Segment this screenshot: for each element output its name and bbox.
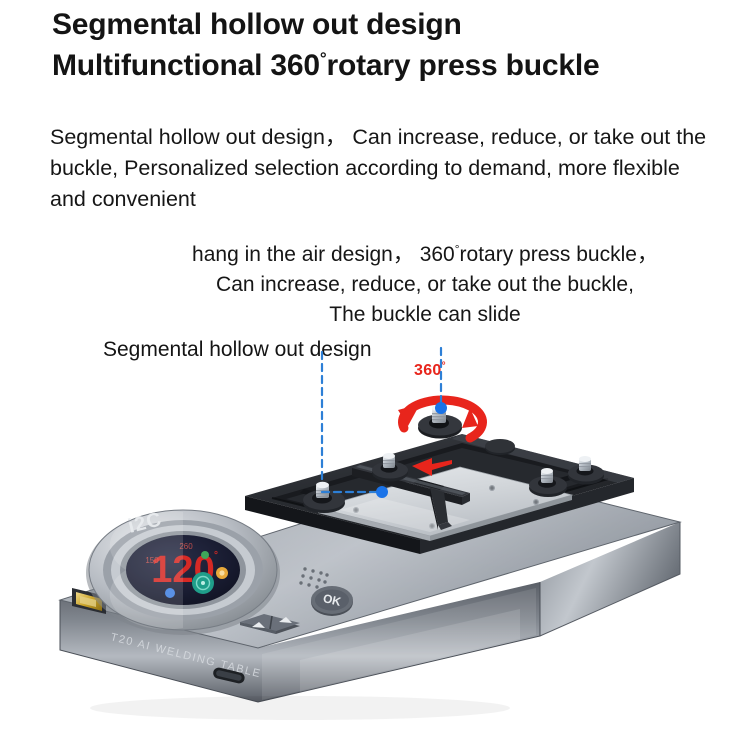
description-paragraph: Segmental hollow out design， Can increas… <box>50 122 710 215</box>
leader-dot-rotary <box>435 402 447 414</box>
thumbscrew-buckle-rear-far[interactable] <box>568 456 604 485</box>
feature-paragraph-line-1-pre: hang in the air design， 360 <box>192 243 455 266</box>
feature-paragraph-line-2: Can increase, reduce, or take out the bu… <box>150 270 700 300</box>
leader-line-right <box>435 348 447 414</box>
page-title-line-2-post: rotary press buckle <box>327 49 600 82</box>
display-status-dot-green <box>201 551 209 559</box>
product-illustration: T20 AI WELDING TABLE 120 ° 150 260 <box>0 330 750 750</box>
display-unit: ° <box>214 550 218 561</box>
degree-symbol-heading: ° <box>320 49 327 68</box>
page-title: Segmental hollow out design Multifunctio… <box>52 4 742 86</box>
page-title-line-1: Segmental hollow out design <box>52 4 742 45</box>
feature-paragraph: hang in the air design， 360°rotary press… <box>150 240 700 330</box>
leader-dot-hollow-out <box>376 486 388 498</box>
ok-button[interactable]: OK <box>311 586 353 616</box>
feature-paragraph-line-3: The buckle can slide <box>150 300 700 330</box>
display-module[interactable]: 120 ° 150 260 <box>86 510 280 635</box>
thumbscrew-buckle-back-left[interactable] <box>485 439 515 455</box>
page-title-line-2-pre: Multifunctional 360 <box>52 49 320 82</box>
feature-paragraph-line-1-post: rotary press buckle， <box>460 243 658 266</box>
page-title-line-2: Multifunctional 360°rotary press buckle <box>52 45 742 86</box>
